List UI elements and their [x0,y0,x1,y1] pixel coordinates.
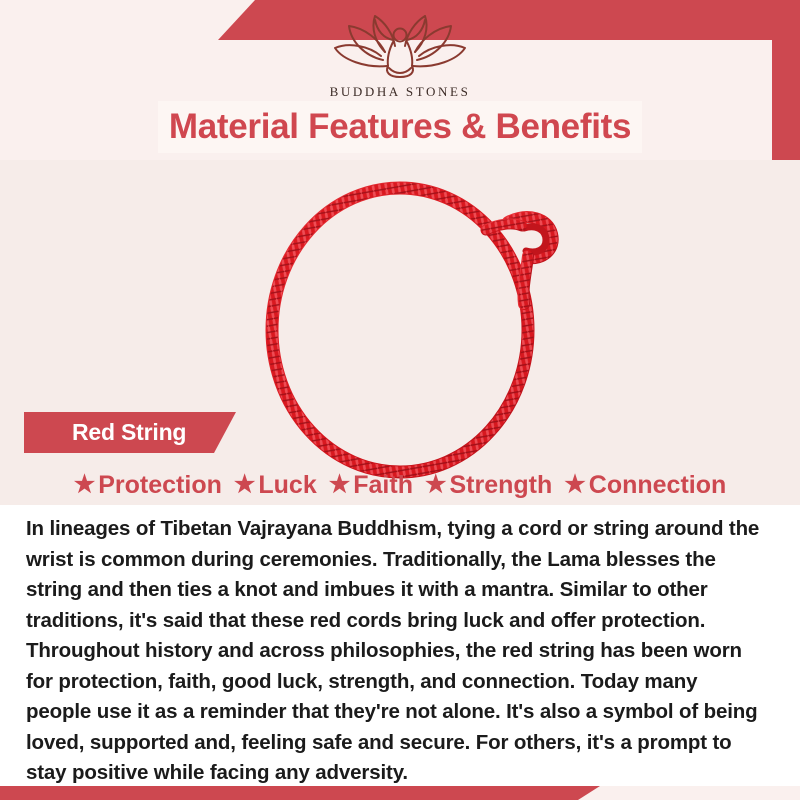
brand-name: BUDDHA STONES [330,84,471,100]
material-banner: Red String [24,412,236,453]
benefits-list: ★ Protection ★ Luck ★ Faith ★ Strength ★… [0,464,800,506]
braided-red-string-bracelet-image [0,160,800,505]
star-icon: ★ [329,473,351,497]
star-icon: ★ [74,473,96,497]
benefit-label: Protection [98,471,222,500]
lotus-meditation-figure-icon [325,10,475,82]
page-title: Material Features & Benefits [169,107,631,147]
benefit-item-faith: ★ Faith [325,471,417,500]
benefit-label: Strength [449,471,552,500]
benefit-label: Connection [589,471,727,500]
star-icon: ★ [564,473,586,497]
star-icon: ★ [234,473,256,497]
benefit-item-strength: ★ Strength [421,471,556,500]
benefit-item-protection: ★ Protection [70,471,226,500]
page-title-band: Material Features & Benefits [158,101,642,153]
page-header: BUDDHA STONES Material Features & Benefi… [0,0,800,160]
brand-logo: BUDDHA STONES [0,10,800,100]
description-paragraph: In lineages of Tibetan Vajrayana Buddhis… [26,514,768,789]
benefit-label: Luck [258,471,316,500]
benefit-item-connection: ★ Connection [560,471,730,500]
star-icon: ★ [425,473,447,497]
benefit-label: Faith [353,471,413,500]
benefit-item-luck: ★ Luck [230,471,321,500]
product-image-area [0,160,800,505]
material-features-infographic: BUDDHA STONES Material Features & Benefi… [0,0,800,800]
material-banner-label: Red String [72,419,186,446]
description-block: In lineages of Tibetan Vajrayana Buddhis… [0,505,800,786]
